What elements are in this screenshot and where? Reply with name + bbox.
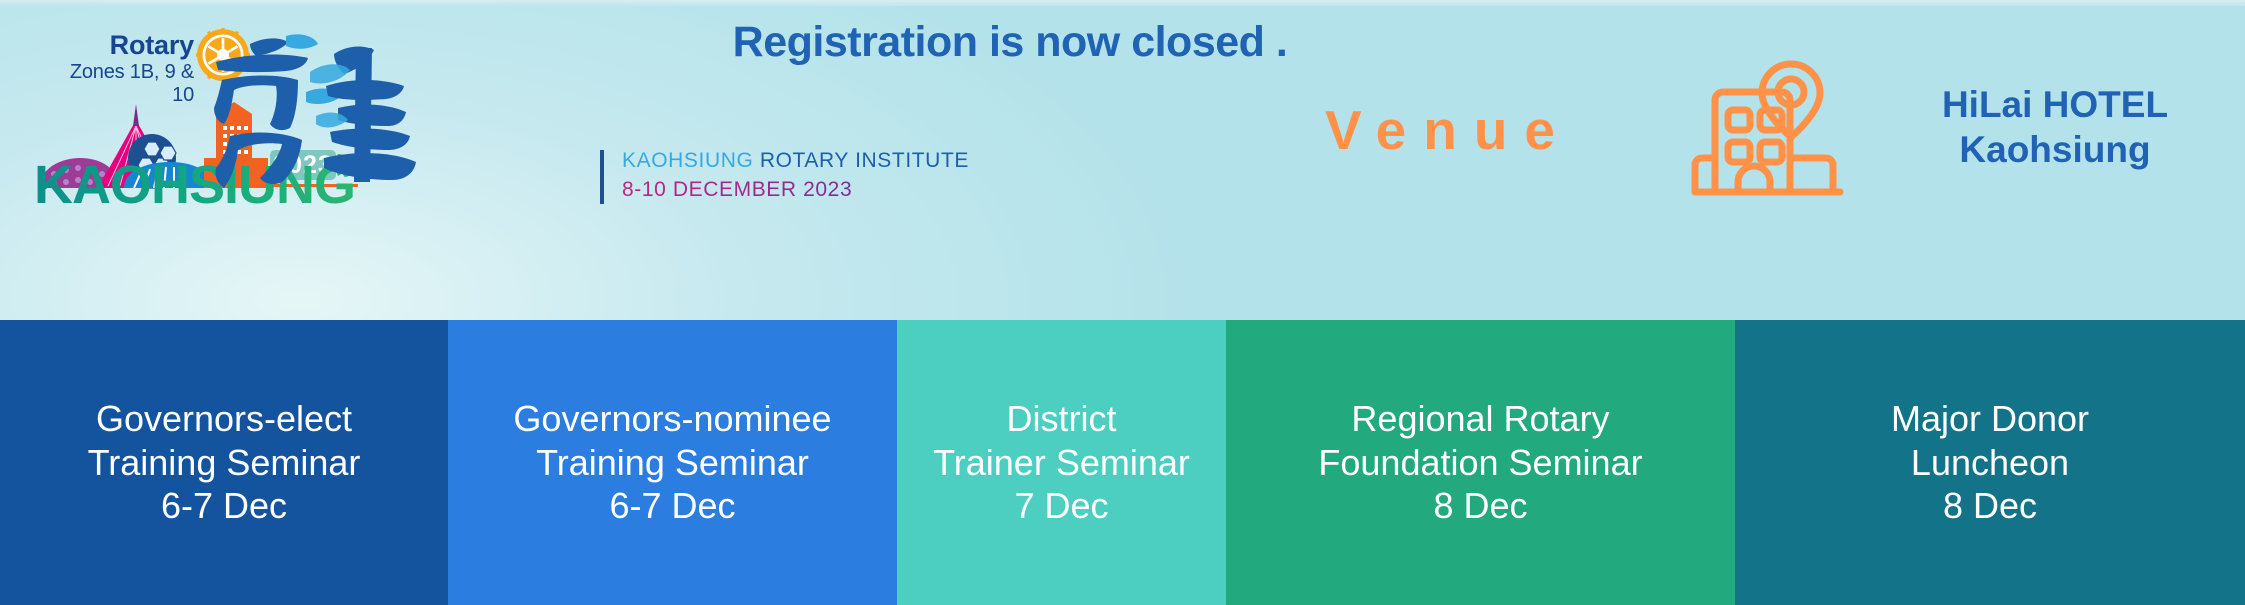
event-panel-governors-elect[interactable]: Governors-elect Training Seminar 6-7 Dec — [0, 320, 448, 605]
event-panel-line1: Governors-nominee — [513, 397, 831, 441]
event-panel-date: 8 Dec — [1433, 484, 1527, 528]
event-panel-governors-nominee[interactable]: Governors-nominee Training Seminar 6-7 D… — [448, 320, 897, 605]
banner-top-divider — [0, 0, 2245, 6]
event-panel-line1: District — [1007, 397, 1117, 441]
hotel-name: HiLai HOTEL Kaohsiung — [1890, 82, 2220, 172]
event-panel-regional-foundation[interactable]: Regional Rotary Foundation Seminar 8 Dec — [1226, 320, 1735, 605]
institute-city: KAOHSIUNG — [622, 149, 753, 172]
event-panel-line2: Training Seminar — [88, 441, 361, 485]
hotel-name-line1: HiLai HOTEL — [1890, 82, 2220, 127]
institute-label: ROTARY INSTITUTE — [760, 149, 969, 172]
hotel-name-line2: Kaohsiung — [1890, 127, 2220, 172]
event-panel-line1: Major Donor — [1891, 397, 2089, 441]
event-panel-date: 7 Dec — [1014, 484, 1108, 528]
rotary-wordmark: Rotary — [44, 30, 194, 61]
event-panel-line2: Trainer Seminar — [933, 441, 1190, 485]
kaohsiung-calligraphy-graphic — [190, 32, 420, 212]
event-panel-line2: Foundation Seminar — [1318, 441, 1642, 485]
event-panel-line2: Luncheon — [1911, 441, 2069, 485]
event-panel-row: Governors-elect Training Seminar 6-7 Dec… — [0, 320, 2245, 605]
institute-dates: 8-10 DECEMBER 2023 — [622, 178, 852, 202]
event-panel-district-trainer[interactable]: District Trainer Seminar 7 Dec — [897, 320, 1226, 605]
event-panel-date: 6-7 Dec — [609, 484, 735, 528]
event-panel-line1: Governors-elect — [96, 397, 352, 441]
institute-name: KAOHSIUNG ROTARY INSTITUTE — [622, 149, 969, 173]
event-panel-major-donor-luncheon[interactable]: Major Donor Luncheon 8 Dec — [1735, 320, 2245, 605]
event-banner-page: Rotary Zones 1B, 9 & 10 — [0, 0, 2245, 605]
venue-label: Venue — [1325, 98, 1572, 162]
event-panel-date: 6-7 Dec — [161, 484, 287, 528]
event-panel-date: 8 Dec — [1943, 484, 2037, 528]
banner-header: Rotary Zones 1B, 9 & 10 — [0, 0, 2245, 320]
institute-accent-bar — [600, 150, 604, 204]
hotel-location-pin-icon — [1690, 58, 1850, 198]
registration-status-headline: Registration is now closed . — [560, 18, 1460, 67]
event-panel-line1: Regional Rotary — [1351, 397, 1609, 441]
event-panel-line2: Training Seminar — [536, 441, 809, 485]
